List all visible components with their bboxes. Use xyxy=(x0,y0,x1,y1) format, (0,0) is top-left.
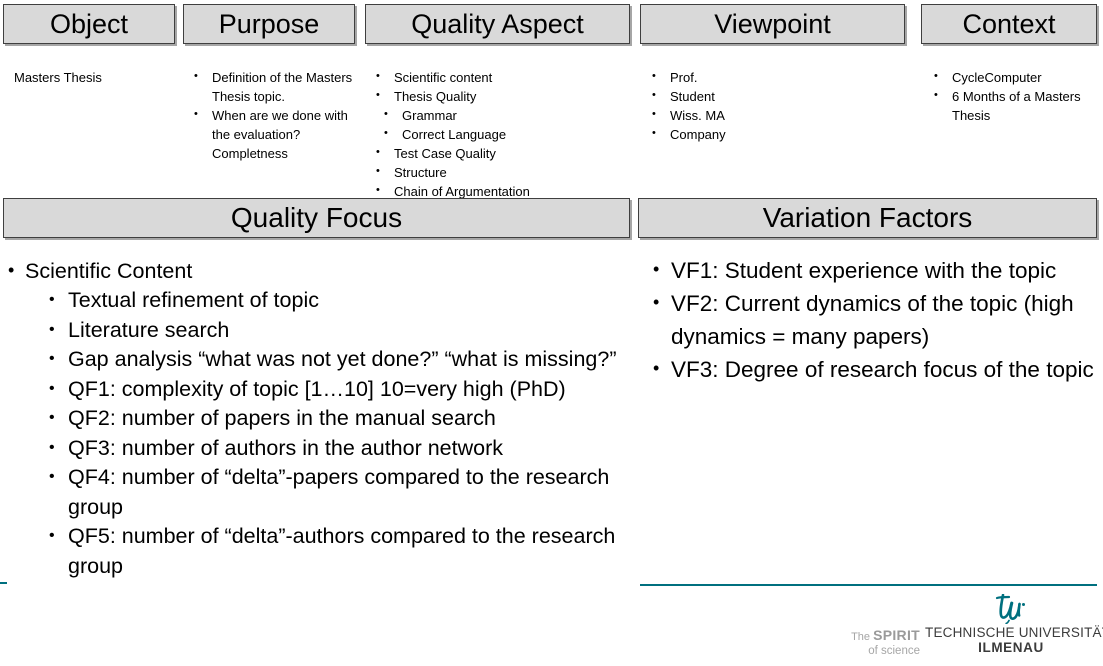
list-item: Gap analysis “what was not yet done?” “w… xyxy=(40,345,628,375)
list-item: Prof. xyxy=(648,68,906,87)
header-box-purpose: Purpose xyxy=(183,4,355,44)
list-item: 6 Months of a Masters Thesis xyxy=(930,87,1100,125)
quality-focus-sublist: Textual refinement of topic Literature s… xyxy=(0,286,628,581)
list-item: Wiss. MA xyxy=(648,106,906,125)
list-item: QF5: number of “delta”-authors compared … xyxy=(40,522,628,581)
spirit-word-text: SPIRIT xyxy=(873,627,920,643)
list-item: Student xyxy=(648,87,906,106)
header-box-object: Object xyxy=(3,4,175,44)
header-label-quality-focus: Quality Focus xyxy=(231,204,402,232)
column-viewpoint: Prof. Student Wiss. MA Company xyxy=(648,68,906,144)
column-object: Masters Thesis xyxy=(14,68,179,87)
tu-monogram-dot xyxy=(1022,603,1025,606)
quality-focus-list: Scientific Content Textual refinement of… xyxy=(0,256,628,581)
viewpoint-list: Prof. Student Wiss. MA Company xyxy=(648,68,906,144)
list-item: QF1: complexity of topic [1…10] 10=very … xyxy=(40,375,628,405)
list-item: VF1: Student experience with the topic xyxy=(645,254,1097,287)
column-context: CycleComputer 6 Months of a Masters Thes… xyxy=(930,68,1100,125)
header-label-object: Object xyxy=(50,11,128,38)
spirit-line-1: The SPIRIT xyxy=(840,628,920,644)
column-purpose: Definition of the Masters Thesis topic. … xyxy=(190,68,355,163)
variation-factors-list: VF1: Student experience with the topic V… xyxy=(645,254,1097,386)
spirit-of-science-logo: The SPIRIT of science xyxy=(840,628,920,658)
footer-divider-stub xyxy=(0,582,7,584)
list-item: QF2: number of papers in the manual sear… xyxy=(40,404,628,434)
context-list: CycleComputer 6 Months of a Masters Thes… xyxy=(930,68,1100,125)
university-name-line-2: ILMENAU xyxy=(925,640,1097,655)
panel-variation-factors: VF1: Student experience with the topic V… xyxy=(645,254,1097,386)
list-item: Structure xyxy=(372,163,630,182)
list-item: Test Case Quality xyxy=(372,144,630,163)
list-item: Scientific content xyxy=(372,68,630,87)
header-box-quality-aspect: Quality Aspect xyxy=(365,4,630,44)
footer-divider-line xyxy=(640,584,1097,586)
list-item: CycleComputer xyxy=(930,68,1100,87)
panel-quality-focus: Scientific Content Textual refinement of… xyxy=(0,256,628,581)
list-item: VF2: Current dynamics of the topic (high… xyxy=(645,287,1097,353)
list-item: QF3: number of authors in the author net… xyxy=(40,434,628,464)
header-box-viewpoint: Viewpoint xyxy=(640,4,905,44)
quality-aspect-sublist: Grammar Correct Language xyxy=(372,106,630,144)
list-item: Thesis Quality xyxy=(372,87,630,106)
list-item: Textual refinement of topic xyxy=(40,286,628,316)
header-box-quality-focus: Quality Focus xyxy=(3,198,630,238)
header-label-viewpoint: Viewpoint xyxy=(714,11,831,38)
object-text: Masters Thesis xyxy=(14,68,179,87)
list-item: Company xyxy=(648,125,906,144)
list-item: Scientific Content xyxy=(0,256,628,286)
list-item: Definition of the Masters Thesis topic. xyxy=(190,68,355,106)
tu-ilmenau-logo: TECHNISCHE UNIVERSITÄT ILMENAU xyxy=(925,594,1097,655)
list-item: Correct Language xyxy=(372,125,630,144)
list-item: VF3: Degree of research focus of the top… xyxy=(645,353,1097,386)
header-box-context: Context xyxy=(921,4,1097,44)
header-label-quality-aspect: Quality Aspect xyxy=(411,11,584,38)
header-box-variation-factors: Variation Factors xyxy=(638,198,1097,238)
header-label-context: Context xyxy=(962,11,1055,38)
spirit-the-text: The xyxy=(851,631,873,643)
university-name-line-1: TECHNISCHE UNIVERSITÄT xyxy=(925,625,1097,640)
header-label-purpose: Purpose xyxy=(219,11,320,38)
header-label-variation-factors: Variation Factors xyxy=(763,204,973,232)
list-item: When are we done with the evaluation? Co… xyxy=(190,106,355,163)
purpose-list: Definition of the Masters Thesis topic. … xyxy=(190,68,355,163)
spirit-line-2: of science xyxy=(840,644,920,658)
list-item: Grammar xyxy=(372,106,630,125)
list-item: QF4: number of “delta”-papers compared t… xyxy=(40,463,628,522)
tu-monogram-icon xyxy=(988,594,1034,624)
list-item: Literature search xyxy=(40,316,628,346)
